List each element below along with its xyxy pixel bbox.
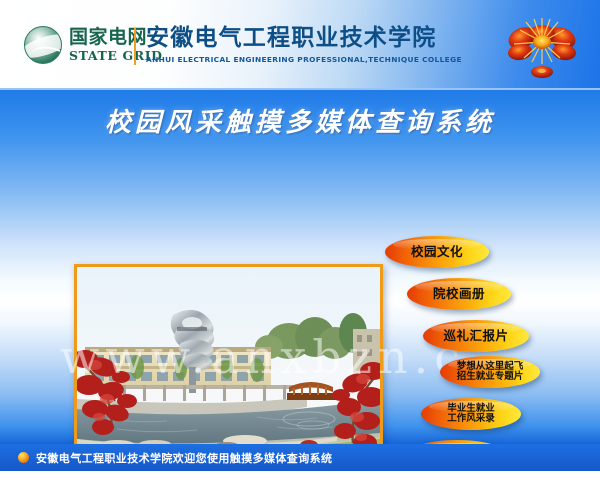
menu-item-label: 校园文化 <box>411 245 463 258</box>
firework-flower-icon <box>502 14 582 86</box>
menu-item-college-album[interactable]: 院校画册 <box>407 278 511 310</box>
campus-photo-image <box>77 267 380 444</box>
bottom-spacer <box>0 471 600 488</box>
header-divider <box>134 28 136 65</box>
menu-item-admissions-employment-film[interactable]: 梦想从这里起飞 招生就业专题片 <box>440 356 540 388</box>
status-bar-text: 安徽电气工程职业技术学院欢迎您使用触摸多媒体查询系统 <box>36 450 332 466</box>
page-header: 国家电网 STATE GRID 安徽电气工程职业技术学院 ANHUI ELECT… <box>0 0 600 88</box>
state-grid-logo: 国家电网 STATE GRID <box>24 26 163 64</box>
menu-item-tour-report-film[interactable]: 巡礼汇报片 <box>423 320 529 352</box>
menu-item-label: 梦想从这里起飞 招生就业专题片 <box>457 362 524 382</box>
menu-item-graduate-employment-record[interactable]: 毕业生就业 工作风采录 <box>421 398 521 430</box>
college-name-cn: 安徽电气工程职业技术学院 <box>146 27 462 50</box>
college-name-en: ANHUI ELECTRICAL ENGINEERING PROFESSIONA… <box>146 55 462 64</box>
menu-item-label: 毕业生就业 工作风采录 <box>447 404 495 424</box>
stage-top-highlight <box>0 88 600 90</box>
campus-photo <box>74 264 383 444</box>
kiosk-screen: 国家电网 STATE GRID 安徽电气工程职业技术学院 ANHUI ELECT… <box>0 0 600 488</box>
page-title: 校园风采触摸多媒体查询系统 <box>0 102 600 139</box>
menu-item-campus-culture[interactable]: 校园文化 <box>385 236 489 268</box>
main-menu: 校园文化 院校画册 巡礼汇报片 梦想从这里起飞 招生就业专题片 毕业生就业 工作… <box>385 228 600 444</box>
college-title-block: 安徽电气工程职业技术学院 ANHUI ELECTRICAL ENGINEERIN… <box>146 27 462 64</box>
menu-item-label: 巡礼汇报片 <box>443 329 508 342</box>
main-stage: 校园风采触摸多媒体查询系统 技 <box>0 88 600 444</box>
menu-item-label: 院校画册 <box>433 287 485 300</box>
orange-dot-icon <box>18 452 29 463</box>
status-bar: 安徽电气工程职业技术学院欢迎您使用触摸多媒体查询系统 <box>0 444 600 471</box>
state-grid-emblem-icon <box>24 26 62 64</box>
